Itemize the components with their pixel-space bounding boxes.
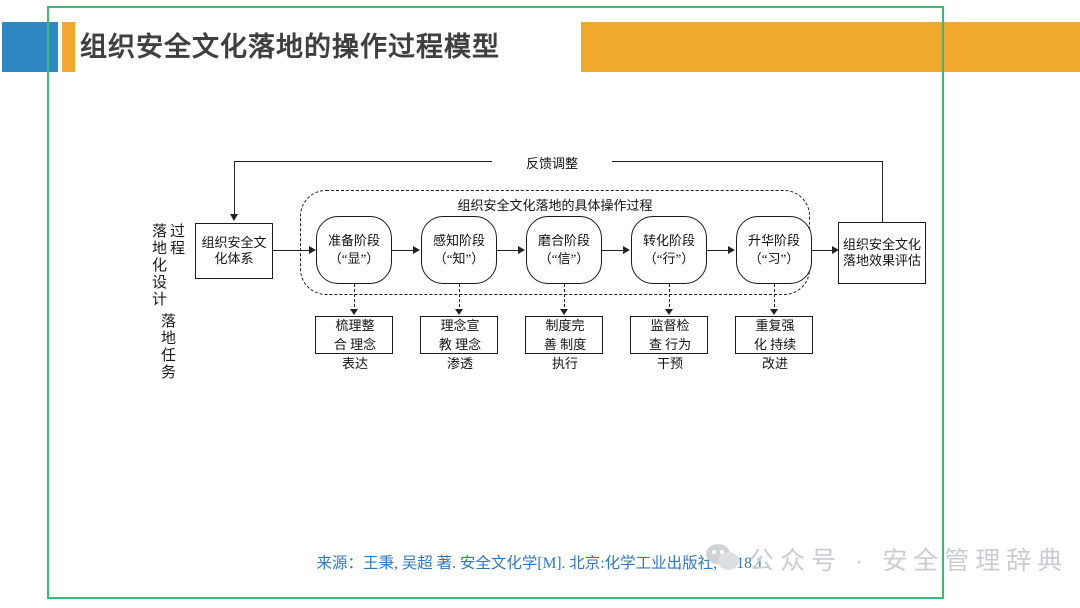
left-label-task: 落地任务 (157, 313, 176, 391)
connector-stage4-stage5 (707, 250, 729, 251)
stage-4-key: （“行”） (644, 250, 695, 268)
dashed-drop-1 (354, 284, 355, 312)
task-4-line1: 监督检 (631, 316, 709, 335)
connector-system-to-stage1 (273, 250, 311, 251)
task-1-line1: 梳理整 (316, 316, 394, 335)
dashed-drop-3-arrowhead (560, 309, 568, 315)
connector-stage4-stage5-arrowhead (728, 246, 735, 254)
task-box-5: 重复强 化 持续 改进 (735, 316, 813, 354)
feedback-label: 反馈调整 (492, 153, 612, 172)
task-1-line2: 合 理念 (316, 335, 394, 354)
task-3-line3: 执行 (526, 354, 604, 373)
task-1-line3: 表达 (316, 354, 394, 373)
stage-1-name: 准备阶段 (328, 232, 380, 250)
input-box-culture-system: 组织安全文化体系 (195, 223, 273, 279)
task-5-line3: 改进 (736, 354, 814, 373)
task-box-4: 监督检 查 行为 干预 (630, 316, 708, 354)
dashed-drop-4-arrowhead (665, 309, 673, 315)
dashed-drop-2 (459, 284, 460, 312)
task-3-line2: 善 制度 (526, 335, 604, 354)
stage-2-key: （“知”） (434, 250, 485, 268)
left-label-design-overlay: 过程 (166, 223, 185, 293)
left-label-design: 落地化设计 (148, 223, 167, 293)
connector-stage3-stage4 (602, 250, 624, 251)
task-5-text: 重复强 化 持续 改进 (736, 316, 814, 373)
stage-4-name: 转化阶段 (643, 232, 695, 250)
stage-node-4: 转化阶段 （“行”） (631, 216, 707, 284)
connector-stage3-stage4-arrowhead (623, 246, 630, 254)
connector-system-to-stage1-arrowhead (309, 246, 316, 254)
task-2-line2: 教 理念 (421, 335, 499, 354)
watermark: 公众号 · 安全管理辞典 (706, 538, 1068, 580)
dashed-drop-1-arrowhead (350, 309, 358, 315)
connector-stage1-stage2 (392, 250, 414, 251)
task-box-2: 理念宣 教 理念 渗透 (420, 316, 498, 354)
task-box-1: 梳理整 合 理念 表达 (315, 316, 393, 354)
output-box-effect-evaluation: 组织安全文化落地效果评估 (838, 222, 926, 284)
watermark-text: 公众号 · 安全管理辞典 (749, 541, 1068, 577)
task-5-line1: 重复强 (736, 316, 814, 335)
task-1-text: 梳理整 合 理念 表达 (316, 316, 394, 373)
stage-node-1: 准备阶段 （“显”） (316, 216, 392, 284)
dashed-drop-2-arrowhead (455, 309, 463, 315)
dashed-drop-5 (774, 284, 775, 312)
wechat-icon (706, 544, 740, 574)
task-4-text: 监督检 查 行为 干预 (631, 316, 709, 373)
task-2-line1: 理念宣 (421, 316, 499, 335)
operation-process-group-title: 组织安全文化落地的具体操作过程 (300, 195, 810, 214)
feedback-arrowhead (230, 214, 238, 221)
stage-1-key: （“显”） (329, 250, 380, 268)
dashed-drop-3 (564, 284, 565, 312)
dashed-drop-4 (669, 284, 670, 312)
stage-2-name: 感知阶段 (433, 232, 485, 250)
task-3-text: 制度完 善 制度 执行 (526, 316, 604, 373)
connector-stage2-stage3 (497, 250, 519, 251)
stage-node-2: 感知阶段 （“知”） (421, 216, 497, 284)
connector-stage2-stage3-arrowhead (518, 246, 525, 254)
connector-stage1-stage2-arrowhead (413, 246, 420, 254)
stage-3-name: 磨合阶段 (538, 232, 590, 250)
feedback-line-left-vertical (234, 161, 235, 216)
stage-5-key: （“习”） (749, 250, 800, 268)
process-model-diagram: 反馈调整 组织安全文化落地的具体操作过程 落地化设计 过程 落地任务 组织安全文… (140, 145, 950, 405)
task-box-3: 制度完 善 制度 执行 (525, 316, 603, 354)
feedback-line-right-vertical (882, 161, 883, 223)
task-3-line1: 制度完 (526, 316, 604, 335)
dashed-drop-5-arrowhead (770, 309, 778, 315)
stage-5-name: 升华阶段 (748, 232, 800, 250)
stage-3-key: （“信”） (539, 250, 590, 268)
task-2-text: 理念宣 教 理念 渗透 (421, 316, 499, 373)
task-2-line3: 渗透 (421, 354, 499, 373)
connector-stage5-to-eval (812, 250, 834, 251)
task-4-line2: 查 行为 (631, 335, 709, 354)
task-4-line3: 干预 (631, 354, 709, 373)
stage-node-5: 升华阶段 （“习”） (736, 216, 812, 284)
task-5-line2: 化 持续 (736, 335, 814, 354)
stage-node-3: 磨合阶段 （“信”） (526, 216, 602, 284)
